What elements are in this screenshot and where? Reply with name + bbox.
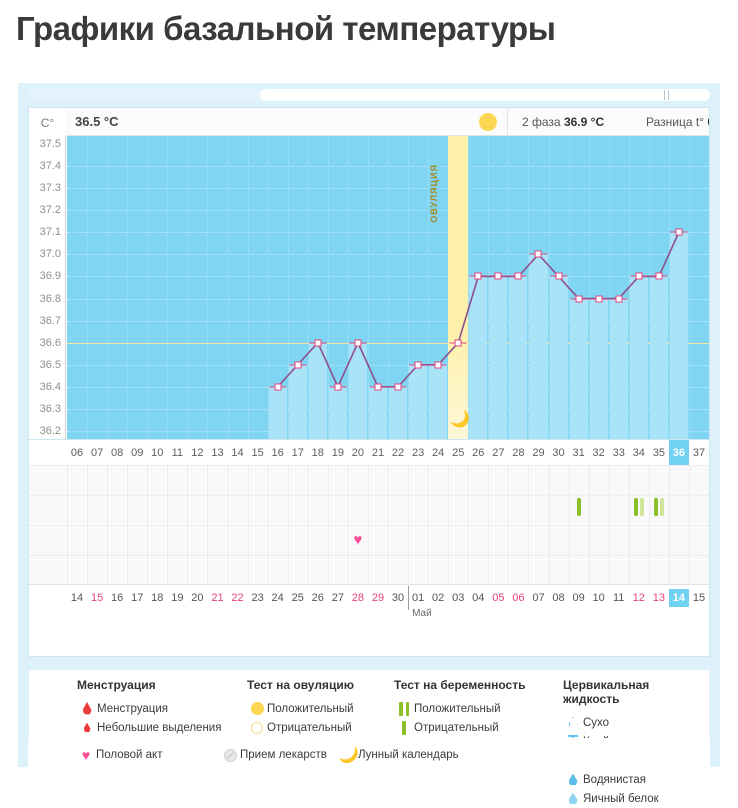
symbol-grid-line [709,465,710,584]
calendar-date-cell[interactable]: 14 [669,589,689,607]
calendar-date-cell[interactable]: 02 [428,589,448,607]
legend-footer: ♥Половой актПрием лекарств🌙Лунный календ… [28,738,710,772]
plot-area[interactable]: ОВУЛЯЦИЯ🌙 [67,136,709,439]
cycle-day-cell[interactable]: 23 [408,440,428,465]
phase2-label: 2 фаза 36.9 °C [522,115,604,129]
cycle-day-cell[interactable]: 07 [87,440,107,465]
calendar-date-cell[interactable]: 15 [87,589,107,607]
calendar-date-row[interactable]: 1415161718192021222324252627282930010203… [29,586,709,628]
calendar-date-cell[interactable]: 20 [187,589,207,607]
symbol-band[interactable]: ♥ [29,465,709,585]
cycle-day-cell[interactable]: 18 [308,440,328,465]
scrollbar-grip-icon[interactable] [664,90,669,100]
green-bar-icon [654,498,658,516]
calendar-date-cell[interactable]: 26 [308,589,328,607]
phase2-prefix: 2 фаза [522,115,561,129]
legend-item-label: Отрицательный [414,722,499,734]
calendar-date-cell[interactable]: 12 [629,589,649,607]
pregnancy-test-marker[interactable] [654,498,664,516]
page-title: Графики базальной температуры [0,0,738,49]
legend-item-label: Сухо [583,717,609,729]
temperature-point[interactable] [575,295,582,302]
legend-footer-label: Прием лекарств [240,749,327,761]
temperature-point[interactable] [675,229,682,236]
cycle-day-cell[interactable]: 33 [609,440,629,465]
legend-item[interactable]: Положительный [247,699,354,718]
calendar-date-cell[interactable]: 30 [388,589,408,607]
temperature-point[interactable] [395,383,402,390]
cycle-day-cell[interactable]: 09 [127,440,147,465]
legend-item[interactable]: Яичный белок [563,789,709,808]
cycle-day-cell[interactable]: 08 [107,440,127,465]
temperature-unit-label: C° [29,108,66,136]
cycle-day-cell[interactable]: 27 [488,440,508,465]
legend-column: МенструацияМенструацияНебольшие выделени… [77,678,221,737]
cycle-day-cell[interactable]: 11 [167,440,187,465]
one-green-bar-icon [394,721,414,735]
legend-footer-item[interactable]: 🌙Лунный календарь [338,745,459,765]
phase2-header: 2 фаза 36.9 °C Разница t° 0.4 °C [507,108,709,136]
pill-icon [220,749,240,762]
legend-item-label: Отрицательный [267,722,352,734]
cycle-day-cell[interactable]: 31 [569,440,589,465]
temperature-point[interactable] [655,273,662,280]
legend-column-title: Цервикальная жидкость [563,678,709,706]
temperature-point[interactable] [535,251,542,258]
temperature-point[interactable] [615,295,622,302]
cycle-day-cell[interactable]: 13 [207,440,227,465]
calendar-date-cell[interactable]: 05 [488,589,508,607]
cycle-day-cell[interactable]: 21 [368,440,388,465]
legend-item-label: Яичный белок [583,793,659,805]
legend-footer-item[interactable]: ♥Половой акт [76,745,162,765]
symbol-row-line [29,525,709,526]
legend-item[interactable]: Небольшие выделения [77,718,221,737]
temperature-point[interactable] [354,339,361,346]
cycle-day-cell[interactable]: 36 [669,440,689,465]
y-axis-tick: 36.3 [40,403,61,415]
legend-item-label: Небольшие выделения [97,722,221,734]
cycle-day-cell[interactable]: 10 [147,440,167,465]
temperature-point[interactable] [334,383,341,390]
cycle-day-cell[interactable]: 16 [268,440,288,465]
calendar-date-cell[interactable]: 14 [67,589,87,607]
y-axis: 37.537.437.337.237.137.036.936.836.736.6… [29,136,66,439]
cycle-day-cell[interactable]: 32 [589,440,609,465]
cycle-day-cell[interactable]: 29 [528,440,548,465]
filled-circle-icon [247,702,267,715]
diff-prefix: Разница t° [646,115,704,129]
temperature-point[interactable] [555,273,562,280]
legend-item[interactable]: Положительный [394,699,533,718]
temperature-point[interactable] [475,273,482,280]
blood-drop-icon [77,702,97,715]
pregnancy-test-marker[interactable] [577,498,581,516]
temperature-point[interactable] [294,361,301,368]
legend-column-title: Тест на овуляцию [247,678,354,692]
symbol-row-line [29,555,709,556]
calendar-date-cell[interactable]: 17 [127,589,147,607]
y-axis-tick: 36.9 [40,270,61,282]
calendar-date-cell[interactable]: 21 [207,589,227,607]
y-axis-tick: 36.2 [40,425,61,437]
legend-column: Тест на овуляциюПоложительныйОтрицательн… [247,678,354,737]
cycle-day-cell[interactable]: 06 [67,440,87,465]
green-bar-icon [577,498,581,516]
calendar-date-cell[interactable]: 29 [368,589,388,607]
month-separator [408,586,409,610]
cycle-day-cell[interactable]: 28 [508,440,528,465]
chart-header: C° 36.5 °C 2 фаза 36.9 °C Разница t° 0.4… [29,108,709,136]
calendar-date-cell[interactable]: 03 [448,589,468,607]
cycle-day-cell[interactable]: 22 [388,440,408,465]
temperature-point[interactable] [435,361,442,368]
cycle-day-cell[interactable]: 26 [468,440,488,465]
cycle-day-cell[interactable]: 17 [288,440,308,465]
heart-icon: ♥ [76,748,96,762]
temperature-point[interactable] [374,383,381,390]
temperature-point[interactable] [314,339,321,346]
small-blood-drop-icon [77,723,97,733]
temperature-point[interactable] [455,339,462,346]
cycle-day-row[interactable]: 0607080910111213141516171819202122232425… [29,439,709,465]
temperature-line [67,136,709,439]
y-axis-tick: 36.6 [40,337,61,349]
temperature-difference-label: Разница t° 0.4 °C [646,115,710,129]
ovulation-positive-test-icon[interactable] [479,113,497,131]
calendar-date-cell[interactable]: 10 [589,589,609,607]
y-axis-tick: 37.4 [40,160,61,172]
legend-footer-item[interactable]: Прием лекарств [220,745,327,765]
watery-drop-icon [563,774,583,786]
two-green-bars-icon [394,702,414,716]
y-axis-tick: 36.8 [40,293,61,305]
legend-footer-label: Половой акт [96,749,162,761]
y-axis-tick: 37.5 [40,138,61,150]
cycle-day-cell[interactable]: 15 [248,440,268,465]
y-axis-tick: 37.0 [40,248,61,260]
cycle-day-cell[interactable]: 20 [348,440,368,465]
scrollbar-thumb[interactable] [260,89,710,101]
calendar-date-cell[interactable]: 15 [689,589,709,607]
diff-value: 0.4 °C [707,115,710,129]
legend-column-title: Менструация [77,678,221,692]
calendar-date-cell[interactable]: 06 [508,589,528,607]
legend-column-title: Тест на беременность [394,678,533,692]
dry-drop-icon [563,717,583,729]
cycle-day-cell[interactable]: 30 [549,440,569,465]
calendar-date-cell[interactable]: 11 [609,589,629,607]
bbt-chart: C° 36.5 °C 2 фаза 36.9 °C Разница t° 0.4… [28,107,710,657]
calendar-date-cell[interactable]: 07 [528,589,548,607]
y-axis-tick: 37.3 [40,182,61,194]
chart-card: C° 36.5 °C 2 фаза 36.9 °C Разница t° 0.4… [18,83,720,767]
cycle-day-cell[interactable]: 35 [649,440,669,465]
calendar-date-cell[interactable]: 08 [549,589,569,607]
legend-footer-label: Лунный календарь [358,749,459,761]
calendar-date-cell[interactable]: 16 [107,589,127,607]
temperature-point[interactable] [415,361,422,368]
temperature-point[interactable] [515,273,522,280]
calendar-date-cell[interactable]: 25 [288,589,308,607]
legend-item-label: Менструация [97,703,168,715]
calendar-date-cell[interactable]: 13 [649,589,669,607]
temperature-point[interactable] [595,295,602,302]
eggwhite-drop-icon [563,793,583,805]
cycle-day-cell[interactable]: 14 [228,440,248,465]
faded-green-bar-icon [660,498,664,516]
y-axis-tick: 36.5 [40,359,61,371]
pregnancy-test-marker[interactable] [634,498,644,516]
heart-icon[interactable]: ♥ [353,532,362,549]
legend-item-label: Положительный [414,703,501,715]
horizontal-scrollbar[interactable] [28,89,710,101]
temperature-point[interactable] [635,273,642,280]
moon-icon: 🌙 [338,748,358,763]
phase1-value: 36.5 °C [75,114,119,129]
cycle-day-cell[interactable]: 19 [328,440,348,465]
legend-item-label: Водянистая [583,774,646,786]
y-axis-tick: 36.7 [40,315,61,327]
phase2-value: 36.9 °C [564,115,604,129]
calendar-date-cell[interactable]: 01 [408,589,428,607]
cycle-day-cell[interactable]: 24 [428,440,448,465]
legend-item-label: Положительный [267,703,354,715]
symbol-row-line [29,495,709,496]
legend-item[interactable]: Отрицательный [394,718,533,737]
legend-item[interactable]: Отрицательный [247,718,354,737]
calendar-date-cell[interactable]: 22 [228,589,248,607]
calendar-date-cell[interactable]: 09 [569,589,589,607]
calendar-date-cell[interactable]: 19 [167,589,187,607]
cycle-day-cell[interactable]: 34 [629,440,649,465]
calendar-date-cell[interactable]: 27 [328,589,348,607]
faded-green-bar-icon [640,498,644,516]
temperature-point[interactable] [495,273,502,280]
calendar-date-cell[interactable]: 24 [268,589,288,607]
open-circle-icon [247,722,267,734]
calendar-date-cell[interactable]: 28 [348,589,368,607]
calendar-date-cell[interactable]: 23 [248,589,268,607]
cycle-day-cell[interactable]: 12 [187,440,207,465]
calendar-date-cell[interactable]: 18 [147,589,167,607]
temperature-point[interactable] [274,383,281,390]
phase1-header: 36.5 °C 2 фаза 36.9 °C Разница t° 0.4 °C [67,108,709,136]
y-axis-tick: 37.2 [40,204,61,216]
green-bar-icon [634,498,638,516]
month-label: Май [412,608,432,619]
symbol-row-line [29,465,709,466]
y-axis-tick: 37.1 [40,226,61,238]
cycle-day-cell[interactable]: 37 [689,440,709,465]
legend-item[interactable]: Водянистая [563,770,709,789]
y-axis-tick: 36.4 [40,381,61,393]
cycle-day-cell[interactable]: 25 [448,440,468,465]
legend-item[interactable]: Сухо [563,713,709,732]
calendar-date-cell[interactable]: 04 [468,589,488,607]
legend-item[interactable]: Менструация [77,699,221,718]
